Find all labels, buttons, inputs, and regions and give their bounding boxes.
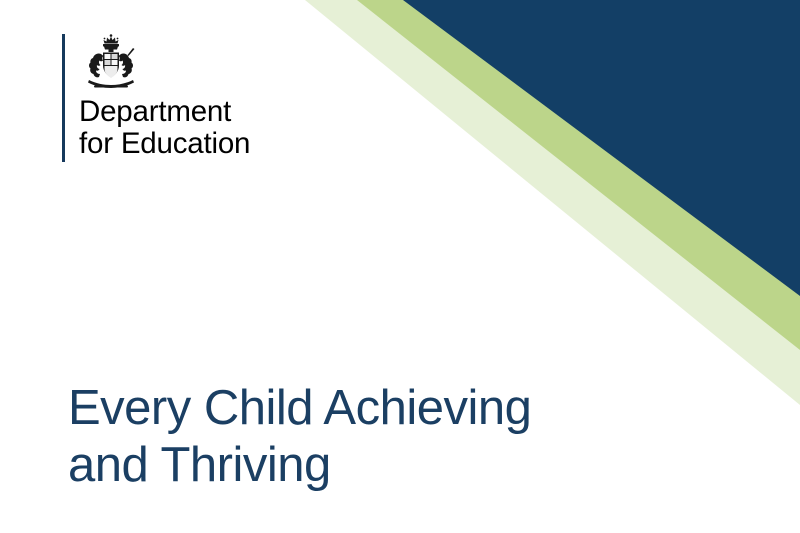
logo-content: Department for Education <box>79 34 250 162</box>
navy-band <box>403 0 800 296</box>
cover-page: Department for Education Every Child Ach… <box>0 0 800 533</box>
pale-green-band <box>305 0 800 405</box>
logo-vertical-rule <box>62 34 65 162</box>
department-for-education-logo: Department for Education <box>62 34 250 162</box>
medium-green-band <box>357 0 800 350</box>
cover-title: Every Child Achieving and Thriving <box>68 380 628 495</box>
logo-wordmark: Department for Education <box>79 96 250 160</box>
royal-coat-of-arms-icon <box>81 34 141 92</box>
